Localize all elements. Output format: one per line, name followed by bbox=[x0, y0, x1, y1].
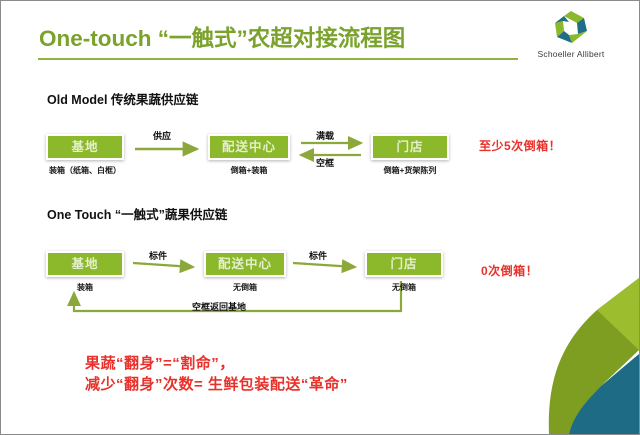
section-heading-old-model: Old Model 传统果蔬供应链 bbox=[47, 89, 198, 108]
schoeller-allibert-logo-icon bbox=[551, 9, 591, 47]
slide-header: One-touch “一触式”农超对接流程图 Schoeller Alliber… bbox=[1, 1, 640, 73]
node-old-distribution-center[interactable]: 配送中心 bbox=[208, 134, 290, 160]
corner-decoration-graphic bbox=[489, 274, 639, 434]
section-heading-one-touch: One Touch “一触式”蔬果供应链 bbox=[47, 204, 227, 223]
caption-new-base: 装箱 bbox=[46, 282, 124, 293]
note-old-model-handlings: 至少5次倒箱！ bbox=[479, 137, 561, 154]
node-old-base[interactable]: 基地 bbox=[46, 134, 124, 160]
note-one-touch-handlings: 0次倒箱！ bbox=[481, 262, 538, 279]
caption-old-distribution-center: 倒箱+装箱 bbox=[197, 165, 301, 176]
title-underline bbox=[38, 58, 518, 60]
caption-old-base: 装箱（纸箱、白框） bbox=[23, 165, 147, 176]
arrow-label-empty-crate: 空框 bbox=[316, 156, 334, 169]
node-new-distribution-center[interactable]: 配送中心 bbox=[204, 251, 286, 277]
arrow-label-standard-unit-2: 标件 bbox=[309, 249, 327, 262]
node-old-store[interactable]: 门店 bbox=[371, 134, 449, 160]
arrow-label-standard-unit-1: 标件 bbox=[149, 249, 167, 262]
conclusion-text: 果蔬“翻身”=“割命”， 减少“翻身”次数= 生鲜包装配送“革命” bbox=[85, 353, 348, 395]
node-new-store[interactable]: 门店 bbox=[365, 251, 443, 277]
brand-name-label: Schoeller Allibert bbox=[517, 49, 625, 59]
page-title: One-touch “一触式”农超对接流程图 bbox=[39, 21, 405, 53]
caption-new-store: 无倒箱 bbox=[359, 282, 449, 293]
arrow-label-supply: 供应 bbox=[153, 129, 171, 142]
caption-old-store: 倒箱+货架陈列 bbox=[357, 165, 463, 176]
brand-logo: Schoeller Allibert bbox=[517, 9, 625, 67]
conclusion-line-2: 减少“翻身”次数= 生鲜包装配送“革命” bbox=[85, 374, 348, 395]
slide-canvas: One-touch “一触式”农超对接流程图 Schoeller Alliber… bbox=[0, 0, 640, 435]
arrow-new-standard-2 bbox=[293, 263, 355, 267]
arrow-new-standard-1 bbox=[133, 263, 193, 267]
arrow-label-full-load: 满载 bbox=[316, 129, 334, 142]
caption-new-distribution-center: 无倒箱 bbox=[198, 282, 292, 293]
conclusion-line-1: 果蔬“翻身”=“割命”， bbox=[85, 353, 348, 374]
arrow-label-empty-crate-return: 空框返回基地 bbox=[192, 300, 246, 313]
node-new-base[interactable]: 基地 bbox=[46, 251, 124, 277]
